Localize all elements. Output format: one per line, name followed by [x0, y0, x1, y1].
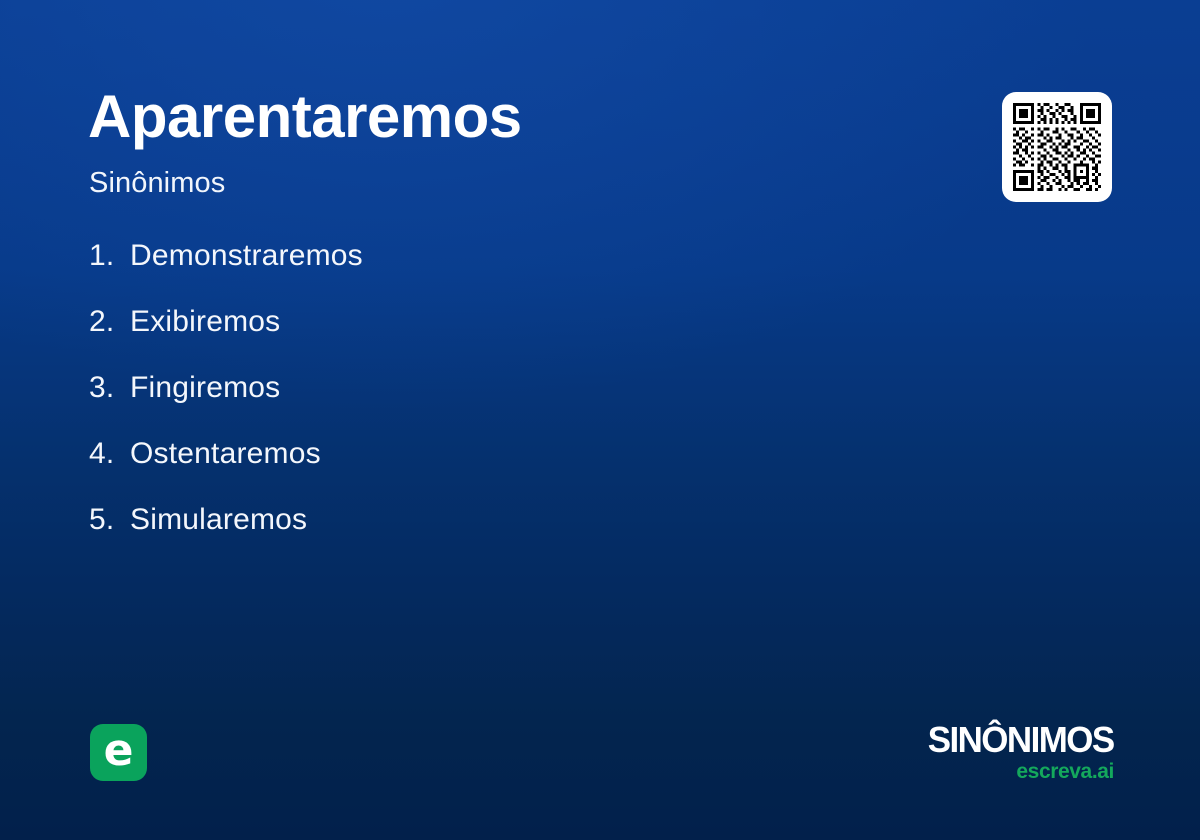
- synonym-number: 4.: [89, 434, 130, 474]
- sinonimos-logo[interactable]: SINÔNIMOS escreva.ai: [922, 722, 1114, 783]
- synonym-number: 3.: [89, 368, 130, 408]
- synonym-term: Fingiremos: [130, 368, 280, 408]
- synonym-number: 1.: [89, 236, 130, 276]
- synonym-term: Simularemos: [130, 500, 307, 540]
- logo-domain: escreva.ai: [922, 761, 1114, 783]
- escreva-e-icon: e: [104, 729, 134, 773]
- synonyms-list: 1.Demonstraremos2.Exibiremos3.Fingiremos…: [89, 236, 889, 566]
- section-label: Sinônimos: [89, 166, 225, 200]
- synonym-number: 2.: [89, 302, 130, 342]
- page-title: Aparentaremos: [88, 84, 522, 150]
- synonym-item: 5.Simularemos: [89, 500, 889, 566]
- logo-wordmark: SINÔNIMOS: [928, 722, 1114, 758]
- synonym-item: 1.Demonstraremos: [89, 236, 889, 302]
- qr-code[interactable]: [1002, 92, 1112, 202]
- synonym-item: 2.Exibiremos: [89, 302, 889, 368]
- escreva-badge[interactable]: e: [90, 724, 147, 781]
- synonyms-card: Aparentaremos Sinônimos: [0, 0, 1200, 840]
- synonym-item: 3.Fingiremos: [89, 368, 889, 434]
- synonym-term: Demonstraremos: [130, 236, 363, 276]
- synonym-term: Exibiremos: [130, 302, 280, 342]
- synonym-number: 5.: [89, 500, 130, 540]
- qr-code-icon: [1013, 103, 1101, 191]
- synonym-item: 4.Ostentaremos: [89, 434, 889, 500]
- synonym-term: Ostentaremos: [130, 434, 321, 474]
